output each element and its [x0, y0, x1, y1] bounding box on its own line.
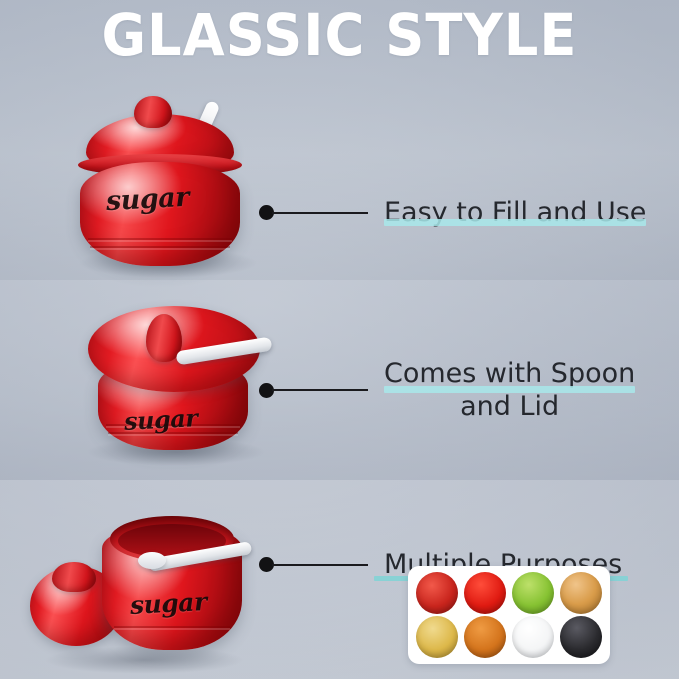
product-image-jar-closed-top: sugar — [80, 300, 280, 470]
spoon-bowl — [138, 552, 166, 569]
callout-leader-line — [272, 564, 368, 566]
jar-label-text: sugar — [123, 406, 198, 434]
callout-leader-line — [272, 389, 368, 391]
callout-label: Comes with Spoon and Lid — [384, 357, 635, 423]
callout-easy-to-fill: Easy to Fill and Use — [259, 196, 646, 229]
food-sample-paprika-powder — [464, 616, 506, 658]
callout-highlight-bar — [384, 386, 635, 393]
food-sample-black-sesame — [560, 616, 602, 658]
jar-ring-1 — [88, 238, 232, 240]
lid-knob — [134, 96, 172, 128]
food-sample-card — [408, 566, 610, 664]
food-sample-white-sugar — [512, 616, 554, 658]
product-image-jar-open: sugar — [26, 500, 256, 675]
page-title: GLASSIC STYLE — [0, 4, 679, 66]
food-sample-chili-flakes — [416, 572, 458, 614]
product-image-jar-closed-front: sugar — [70, 88, 270, 278]
food-sample-red-sauce — [464, 572, 506, 614]
food-sample-mustard-seeds — [416, 616, 458, 658]
detached-lid-knob — [52, 562, 96, 592]
callout-leader-line — [272, 212, 368, 214]
jar-label-text: sugar — [105, 186, 189, 214]
food-sample-matcha-powder — [512, 572, 554, 614]
callout-highlight-bar — [384, 219, 646, 226]
infographic-canvas: GLASSIC STYLE sugar sugar — [0, 0, 679, 679]
product-shadow — [44, 646, 244, 674]
jar-label-text: sugar — [129, 590, 207, 618]
callout-comes-with-spoon-and-lid: Comes with Spoon and Lid — [259, 357, 635, 423]
callout-label: Easy to Fill and Use — [384, 196, 646, 229]
jar-ring-1 — [114, 626, 230, 628]
food-sample-dried-fruit-nuts — [560, 572, 602, 614]
jar-ring-2 — [90, 246, 230, 248]
